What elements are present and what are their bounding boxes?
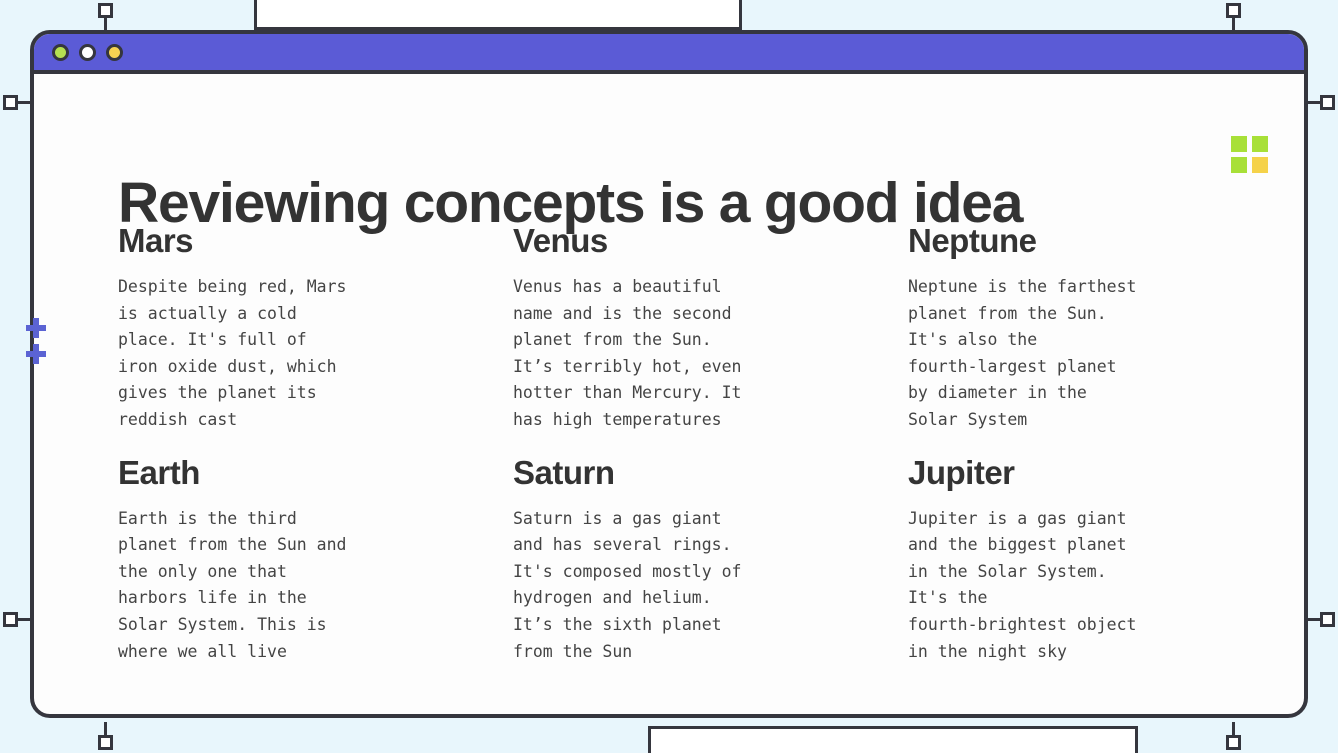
selection-stem-bottom-right bbox=[1232, 722, 1235, 735]
planet-description-neptune[interactable]: Neptune is the farthest planet from the … bbox=[908, 274, 1258, 434]
planet-description-mars[interactable]: Despite being red, Mars is actually a co… bbox=[118, 274, 513, 434]
selection-stem-right-lower bbox=[1307, 618, 1320, 621]
selection-handle-bottom-left[interactable] bbox=[98, 735, 113, 750]
selection-stem-top bbox=[104, 18, 107, 31]
planet-block-mars[interactable]: Mars Despite being red, Mars is actually… bbox=[118, 222, 513, 434]
selection-handle-bottom-right[interactable] bbox=[1226, 735, 1241, 750]
selection-handle-left-lower[interactable] bbox=[3, 612, 18, 627]
planet-block-venus[interactable]: Venus Venus has a beautiful name and is … bbox=[513, 222, 908, 434]
planet-heading-mars[interactable]: Mars bbox=[118, 222, 513, 260]
planet-heading-neptune[interactable]: Neptune bbox=[908, 222, 1258, 260]
plus-icon-1[interactable] bbox=[26, 318, 46, 338]
planet-grid: Mars Despite being red, Mars is actually… bbox=[118, 222, 1258, 665]
selection-stem-left-upper bbox=[18, 101, 31, 104]
traffic-light-yellow-icon[interactable] bbox=[106, 44, 123, 61]
traffic-light-green-icon[interactable] bbox=[52, 44, 69, 61]
planet-description-venus[interactable]: Venus has a beautiful name and is the se… bbox=[513, 274, 908, 434]
top-toolbar-panel[interactable] bbox=[254, 0, 742, 30]
plus-markers bbox=[26, 318, 46, 364]
traffic-light-white-icon[interactable] bbox=[79, 44, 96, 61]
grid-square-1 bbox=[1231, 136, 1247, 152]
planet-block-neptune[interactable]: Neptune Neptune is the farthest planet f… bbox=[908, 222, 1258, 434]
bottom-toolbar-panel[interactable] bbox=[648, 726, 1138, 753]
planet-block-saturn[interactable]: Saturn Saturn is a gas giant and has sev… bbox=[513, 454, 908, 666]
grid-square-4 bbox=[1252, 157, 1268, 173]
planet-description-saturn[interactable]: Saturn is a gas giant and has several ri… bbox=[513, 506, 908, 666]
selection-handle-right-upper[interactable] bbox=[1320, 95, 1335, 110]
slide-window-titlebar bbox=[34, 34, 1304, 74]
planet-heading-saturn[interactable]: Saturn bbox=[513, 454, 908, 492]
selection-stem-right-upper bbox=[1307, 101, 1320, 104]
selection-stem-left-lower bbox=[18, 618, 31, 621]
selection-stem-top-right bbox=[1232, 18, 1235, 31]
planet-heading-jupiter[interactable]: Jupiter bbox=[908, 454, 1258, 492]
planet-description-jupiter[interactable]: Jupiter is a gas giant and the biggest p… bbox=[908, 506, 1258, 666]
editor-canvas[interactable]: Reviewing concepts is a good idea Mars D… bbox=[0, 0, 1338, 753]
planet-block-earth[interactable]: Earth Earth is the third planet from the… bbox=[118, 454, 513, 666]
planet-heading-earth[interactable]: Earth bbox=[118, 454, 513, 492]
selection-handle-right-lower[interactable] bbox=[1320, 612, 1335, 627]
grid-square-2 bbox=[1252, 136, 1268, 152]
selection-stem-bottom-left bbox=[104, 722, 107, 735]
slide-card[interactable]: Reviewing concepts is a good idea Mars D… bbox=[30, 30, 1308, 718]
planet-description-earth[interactable]: Earth is the third planet from the Sun a… bbox=[118, 506, 513, 666]
selection-handle-top-left-area[interactable] bbox=[98, 3, 113, 18]
grid-decoration-icon bbox=[1231, 136, 1268, 173]
slide-body: Reviewing concepts is a good idea Mars D… bbox=[34, 74, 1304, 718]
grid-square-3 bbox=[1231, 157, 1247, 173]
planet-heading-venus[interactable]: Venus bbox=[513, 222, 908, 260]
selection-handle-top-right[interactable] bbox=[1226, 3, 1241, 18]
plus-icon-2[interactable] bbox=[26, 344, 46, 364]
selection-handle-left-upper[interactable] bbox=[3, 95, 18, 110]
planet-block-jupiter[interactable]: Jupiter Jupiter is a gas giant and the b… bbox=[908, 454, 1258, 666]
